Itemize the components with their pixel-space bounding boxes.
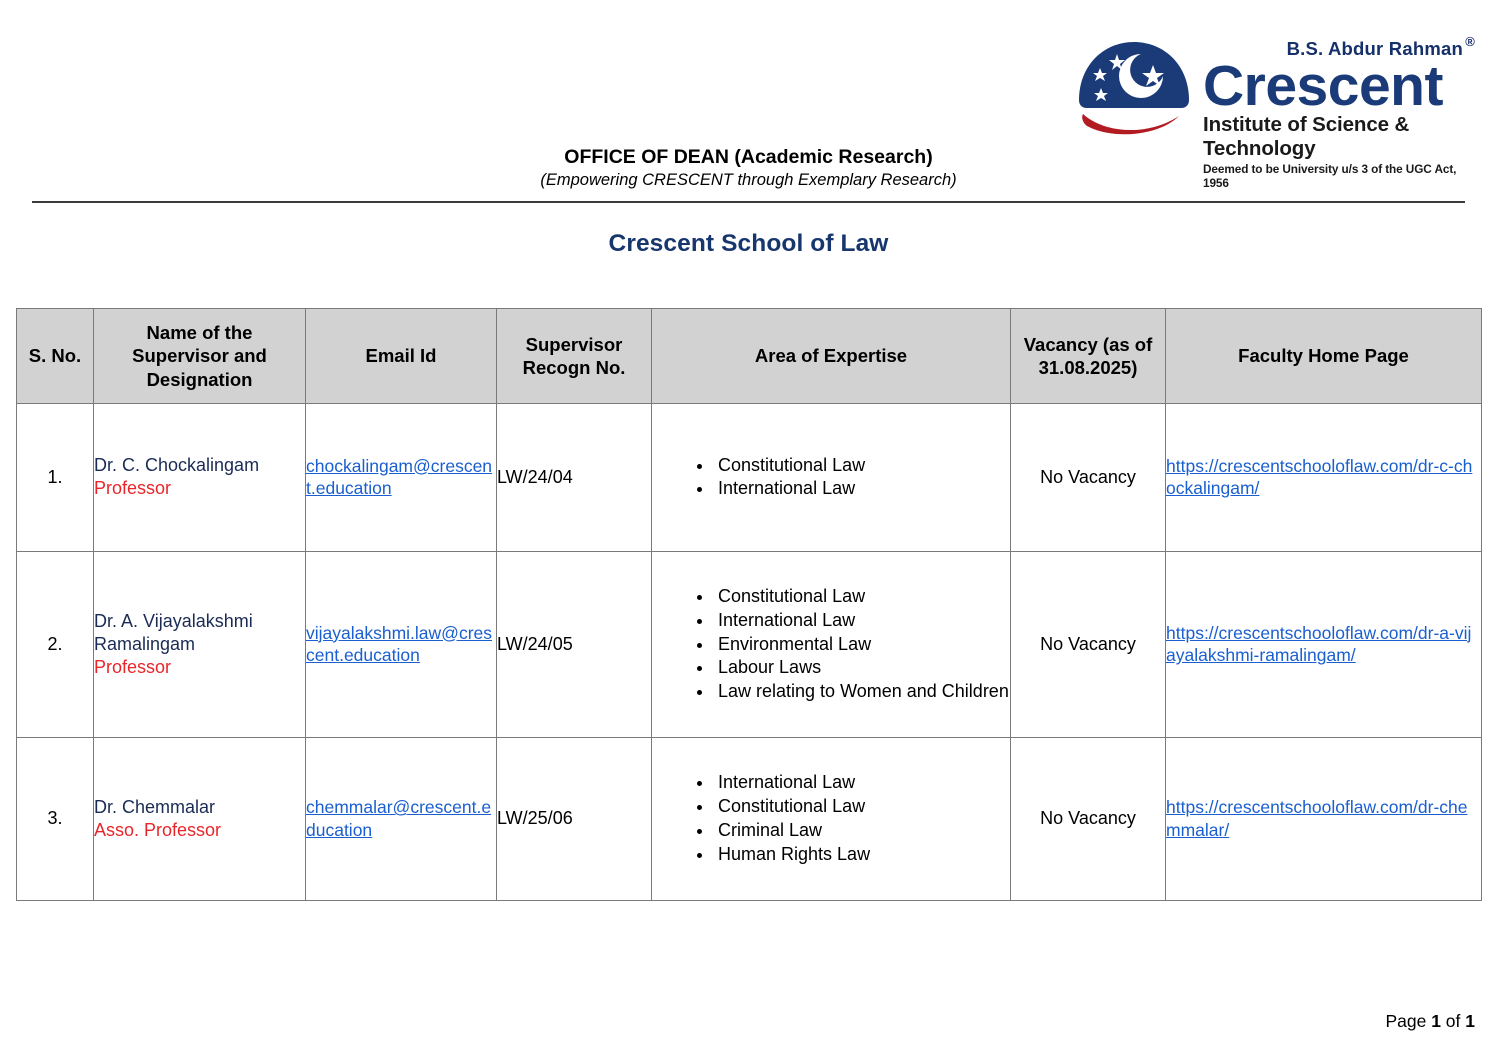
- column-header-sno: S. No.: [17, 309, 94, 404]
- expertise-item: Labour Laws: [714, 656, 1010, 680]
- table-row: 3. Dr. Chemmalar Asso. Professor chemmal…: [17, 737, 1482, 900]
- table-header: S. No. Name of the Supervisor and Design…: [17, 309, 1482, 404]
- footer-prefix: Page: [1385, 1011, 1431, 1031]
- cell-homepage: https://crescentschooloflaw.com/dr-chemm…: [1166, 737, 1482, 900]
- cell-expertise: Constitutional Law International Law Env…: [652, 551, 1011, 737]
- footer-middle: of: [1441, 1011, 1465, 1031]
- office-tagline-text: (Empowering CRESCENT through Exemplary R…: [16, 170, 1481, 191]
- column-header-name: Name of the Supervisor and Designation: [94, 309, 306, 404]
- page-footer: Page 1 of 1: [1385, 1011, 1475, 1032]
- expertise-item: Constitutional Law: [714, 454, 1010, 478]
- logo-brand-main: Crescent: [1203, 60, 1475, 112]
- supervisor-designation: Asso. Professor: [94, 819, 305, 842]
- expertise-item: Human Rights Law: [714, 843, 1010, 867]
- cell-email: chemmalar@crescent.education: [306, 737, 497, 900]
- letterhead: B.S. Abdur Rahman ® Crescent Institute o…: [16, 0, 1481, 178]
- footer-current-page: 1: [1431, 1011, 1441, 1031]
- footer-total-pages: 1: [1465, 1011, 1475, 1031]
- table-body: 1. Dr. C. Chockalingam Professor chockal…: [17, 403, 1482, 900]
- expertise-item: Constitutional Law: [714, 585, 1010, 609]
- cell-vacancy: No Vacancy: [1011, 403, 1166, 551]
- supervisor-name: Dr. Chemmalar: [94, 796, 305, 819]
- office-heading: OFFICE OF DEAN (Academic Research) (Empo…: [16, 146, 1481, 190]
- cell-expertise: International Law Constitutional Law Cri…: [652, 737, 1011, 900]
- expertise-list: Constitutional Law International Law Env…: [652, 585, 1010, 704]
- column-header-recogn: Supervisor Recogn No.: [497, 309, 652, 404]
- expertise-item: Constitutional Law: [714, 795, 1010, 819]
- faculty-home-page-link[interactable]: https://crescentschooloflaw.com/dr-c-cho…: [1166, 456, 1472, 499]
- cell-supervisor: Dr. A. Vijayalakshmi Ramalingam Professo…: [94, 551, 306, 737]
- table-row: 2. Dr. A. Vijayalakshmi Ramalingam Profe…: [17, 551, 1482, 737]
- supervisor-name: Dr. C. Chockalingam: [94, 454, 305, 477]
- supervisors-table: S. No. Name of the Supervisor and Design…: [16, 308, 1482, 901]
- expertise-item: International Law: [714, 609, 1010, 633]
- expertise-list: Constitutional Law International Law: [652, 454, 1010, 502]
- table-row: 1. Dr. C. Chockalingam Professor chockal…: [17, 403, 1482, 551]
- cell-email: vijayalakshmi.law@crescent.education: [306, 551, 497, 737]
- column-header-vacancy: Vacancy (as of 31.08.2025): [1011, 309, 1166, 404]
- email-link[interactable]: chockalingam@crescent.education: [306, 456, 492, 499]
- faculty-home-page-link[interactable]: https://crescentschooloflaw.com/dr-chemm…: [1166, 797, 1468, 840]
- cell-supervisor: Dr. Chemmalar Asso. Professor: [94, 737, 306, 900]
- expertise-item: International Law: [714, 771, 1010, 795]
- expertise-item: Environmental Law: [714, 633, 1010, 657]
- cell-recogn-no: LW/24/05: [497, 551, 652, 737]
- email-link[interactable]: vijayalakshmi.law@crescent.education: [306, 623, 492, 666]
- expertise-item: Criminal Law: [714, 819, 1010, 843]
- cell-sno: 3.: [17, 737, 94, 900]
- supervisor-designation: Professor: [94, 656, 305, 679]
- expertise-item: Law relating to Women and Children: [714, 680, 1010, 704]
- expertise-list: International Law Constitutional Law Cri…: [652, 771, 1010, 866]
- cell-expertise: Constitutional Law International Law: [652, 403, 1011, 551]
- column-header-expertise: Area of Expertise: [652, 309, 1011, 404]
- cell-vacancy: No Vacancy: [1011, 551, 1166, 737]
- column-header-homepage: Faculty Home Page: [1166, 309, 1482, 404]
- institution-logo: B.S. Abdur Rahman ® Crescent Institute o…: [1075, 38, 1475, 148]
- document-page: B.S. Abdur Rahman ® Crescent Institute o…: [0, 0, 1497, 1058]
- page-title: Crescent School of Law: [16, 230, 1481, 258]
- expertise-item: International Law: [714, 477, 1010, 501]
- cell-supervisor: Dr. C. Chockalingam Professor: [94, 403, 306, 551]
- cell-vacancy: No Vacancy: [1011, 737, 1166, 900]
- crescent-moon-star-logo-icon: [1075, 38, 1193, 140]
- cell-recogn-no: LW/24/04: [497, 403, 652, 551]
- header-divider: [32, 201, 1465, 203]
- registered-trademark-icon: ®: [1465, 35, 1475, 48]
- cell-homepage: https://crescentschooloflaw.com/dr-c-cho…: [1166, 403, 1482, 551]
- cell-homepage: https://crescentschooloflaw.com/dr-a-vij…: [1166, 551, 1482, 737]
- cell-recogn-no: LW/25/06: [497, 737, 652, 900]
- table-header-row: S. No. Name of the Supervisor and Design…: [17, 309, 1482, 404]
- logo-brand-top-text: B.S. Abdur Rahman: [1287, 38, 1463, 59]
- email-link[interactable]: chemmalar@crescent.education: [306, 797, 491, 840]
- logo-brand-top: B.S. Abdur Rahman ®: [1203, 40, 1475, 59]
- cell-sno: 1.: [17, 403, 94, 551]
- supervisor-designation: Professor: [94, 477, 305, 500]
- faculty-home-page-link[interactable]: https://crescentschooloflaw.com/dr-a-vij…: [1166, 623, 1471, 666]
- column-header-email: Email Id: [306, 309, 497, 404]
- cell-sno: 2.: [17, 551, 94, 737]
- cell-email: chockalingam@crescent.education: [306, 403, 497, 551]
- supervisor-name: Dr. A. Vijayalakshmi Ramalingam: [94, 610, 305, 656]
- office-title-text: OFFICE OF DEAN (Academic Research): [16, 146, 1481, 170]
